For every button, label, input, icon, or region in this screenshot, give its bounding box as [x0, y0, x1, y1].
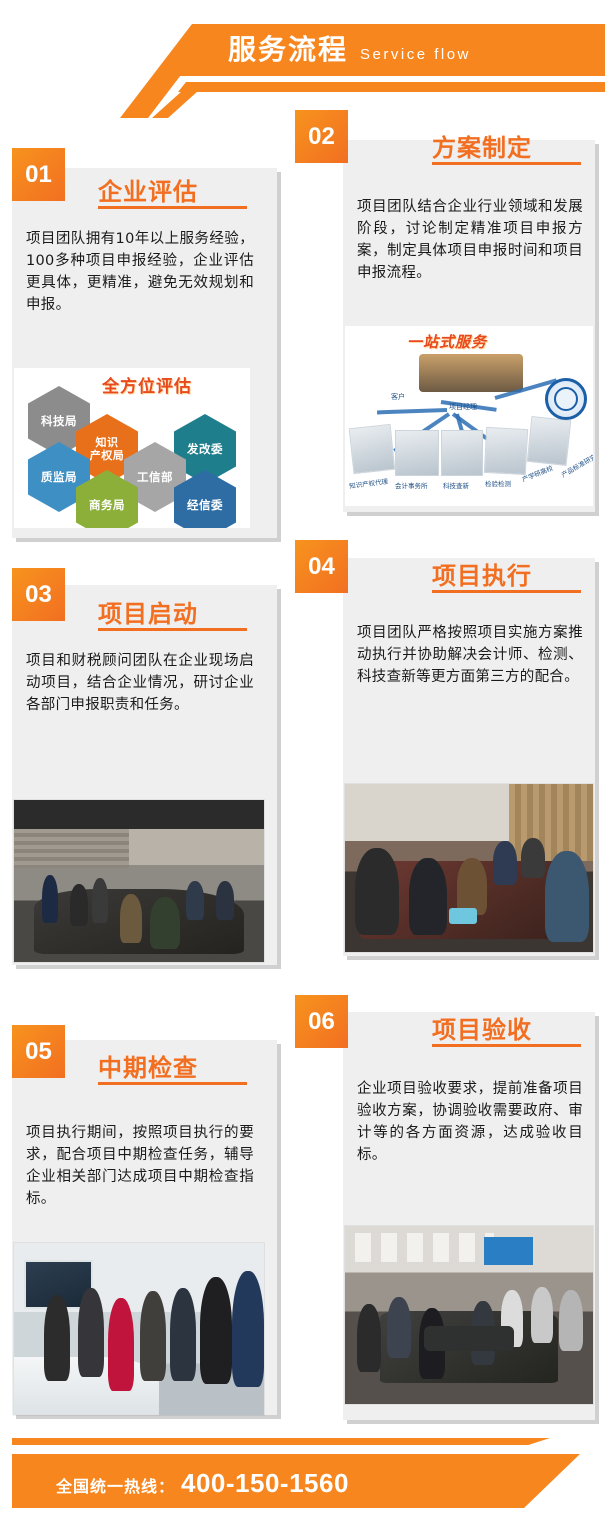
one-stop-hero-photo	[419, 354, 523, 392]
service-tile-3	[484, 427, 528, 475]
person-silhouette	[493, 841, 517, 885]
step-body-03: 项目和财税顾问团队在企业现场启动项目，结合企业情况，研讨企业各部门申报职责和任务…	[26, 650, 254, 716]
person-silhouette	[559, 1290, 583, 1351]
page-footer: 全国统一热线： 400-150-1560	[0, 1420, 605, 1538]
step-title-rule-04	[432, 590, 581, 593]
footer-rule	[12, 1438, 452, 1445]
hex-node-label: 质监局	[41, 471, 77, 484]
step-title-rule-01	[98, 206, 247, 209]
hotline-number[interactable]: 400-150-1560	[181, 1468, 349, 1499]
person-silhouette	[186, 881, 204, 920]
step-title-01: 企业评估	[98, 172, 198, 207]
person-silhouette	[216, 881, 234, 920]
footer-rule-diagonal	[430, 1438, 550, 1445]
step-title-04: 项目执行	[432, 556, 532, 591]
person-silhouette	[92, 878, 108, 923]
hex-node-label: 工信部	[137, 471, 173, 484]
person-silhouette	[170, 1288, 196, 1381]
photo-conference-hall	[345, 1226, 593, 1404]
hex-node-label: 商务局	[89, 499, 125, 512]
hotline-group: 全国统一热线： 400-150-1560	[56, 1468, 349, 1499]
one-stop-service-diagram: 一站式服务 客户 项目经理 知识产权代理 会计事务所 科技查新 检验检测 产学研…	[345, 326, 593, 506]
person-silhouette	[531, 1287, 553, 1344]
step-number-badge-01: 01	[12, 148, 65, 201]
certification-seal-icon	[545, 378, 587, 420]
person-silhouette	[108, 1298, 134, 1391]
infographic-page: 服务流程 Service flow 01 企业评估 项目团队拥有10年以上服务经…	[0, 0, 605, 1538]
page-header: 服务流程 Service flow	[0, 0, 605, 118]
person-silhouette	[140, 1291, 166, 1380]
step-number-badge-06: 06	[295, 995, 348, 1048]
person-silhouette	[409, 858, 447, 935]
hex-node-label: 知识产权局	[90, 436, 125, 462]
service-label-3: 检验检测	[485, 478, 511, 488]
one-stop-center-label-0: 客户	[391, 392, 405, 402]
step-title-rule-03	[98, 628, 247, 631]
conference-table	[424, 1326, 513, 1351]
photo-scene	[345, 1226, 593, 1404]
person-silhouette	[150, 897, 180, 949]
footer-diagonal-accent	[440, 1454, 580, 1508]
step-title-rule-06	[432, 1044, 581, 1047]
service-tile-2	[441, 430, 483, 476]
one-stop-center-label-1: 项目经理	[449, 402, 477, 412]
step-body-04: 项目团队严格按照项目实施方案推动执行并协助解决会计师、检测、科技查新等更方面第三…	[357, 622, 583, 688]
step-title-03: 项目启动	[98, 594, 198, 629]
service-tile-4	[527, 416, 572, 466]
hex-node-label: 科技局	[41, 415, 77, 428]
photo-conference-room	[14, 800, 264, 962]
bag-object	[449, 908, 477, 924]
service-tile-1	[395, 430, 439, 476]
service-label-1: 会计事务所	[395, 480, 428, 490]
photo-meeting-table	[345, 784, 593, 952]
arrow-left	[377, 408, 447, 414]
step-title-06: 项目验收	[432, 1010, 532, 1045]
hex-node-label: 发改委	[187, 443, 223, 456]
hotline-label: 全国统一热线：	[56, 1473, 175, 1497]
step-body-02: 项目团队结合企业行业领域和发展阶段，讨论制定精准项目申报方案，制定具体项目申报时…	[357, 196, 583, 284]
step-number-badge-05: 05	[12, 1025, 65, 1078]
step-title-02: 方案制定	[432, 128, 532, 163]
step-title-rule-02	[432, 162, 581, 165]
step-number-badge-03: 03	[12, 568, 65, 621]
person-silhouette	[521, 838, 545, 878]
one-stop-service-title: 一站式服务	[407, 331, 487, 352]
service-tile-0	[349, 424, 396, 474]
hex-diagram: 全方位评估 科技局 知识产权局 发改委 质监局 工信部 商务局 经信委	[14, 368, 250, 528]
hex-diagram-title: 全方位评估	[102, 372, 192, 397]
service-label-2: 科技查新	[443, 480, 469, 490]
person-silhouette	[42, 875, 58, 924]
step-body-06: 企业项目验收要求，提前准备项目验收方案，协调验收需要政府、审计等的各方面资源，达…	[357, 1078, 583, 1166]
header-banner-underline	[178, 82, 605, 92]
step-body-01: 项目团队拥有10年以上服务经验，100多种项目申报经验，企业评估更具体，更精准，…	[26, 228, 254, 316]
step-title-05: 中期检查	[98, 1048, 198, 1083]
step-number-badge-02: 02	[295, 110, 348, 163]
person-silhouette	[120, 894, 142, 943]
photo-lobby-visit	[14, 1243, 264, 1415]
wall-display	[484, 1237, 534, 1265]
person-silhouette	[355, 848, 399, 935]
person-silhouette	[387, 1297, 411, 1358]
header-title-cn: 服务流程	[228, 30, 348, 70]
person-silhouette	[232, 1271, 264, 1388]
header-title-group: 服务流程 Service flow	[228, 30, 471, 70]
person-silhouette	[357, 1304, 381, 1372]
step-number-badge-04: 04	[295, 540, 348, 593]
header-title-en: Service flow	[360, 46, 471, 63]
step-body-05: 项目执行期间，按照项目执行的要求，配合项目中期检查任务，辅导企业相关部门达成项目…	[26, 1122, 254, 1210]
person-silhouette	[200, 1277, 232, 1384]
hex-node-label: 经信委	[187, 499, 223, 512]
step-title-rule-05	[98, 1082, 247, 1085]
person-silhouette	[44, 1295, 70, 1381]
person-silhouette	[457, 858, 487, 915]
person-silhouette	[78, 1288, 104, 1377]
person-silhouette	[545, 851, 589, 942]
service-label-0: 知识产权代理	[349, 476, 389, 491]
person-silhouette	[70, 884, 88, 926]
